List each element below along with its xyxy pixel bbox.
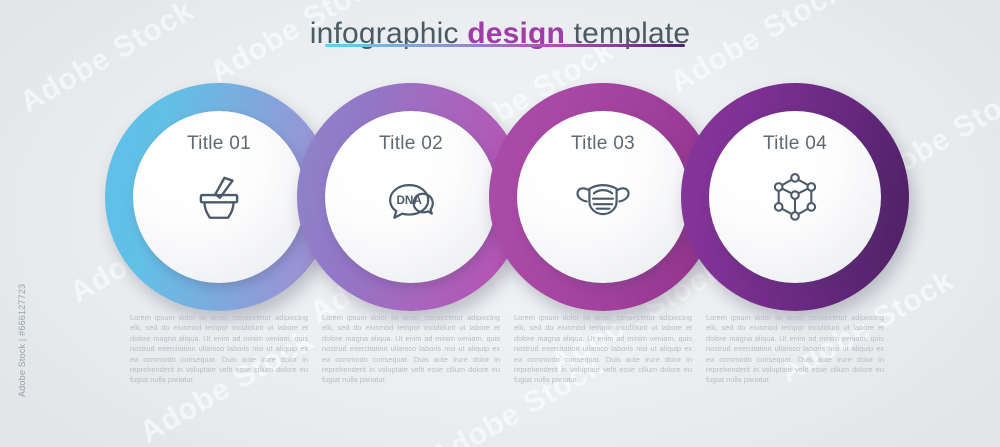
step-description-text-2: Lorem ipsum dolor sit amet, consectetur … [322,313,500,386]
step-title-2: Title 02 [379,133,443,155]
stock-credit-watermark: Adobe Stock | #666127723 [17,277,27,397]
title-underline-divider [325,44,685,47]
step-circle-4[interactable]: Title 04 [681,83,909,311]
step-description-text-4: Lorem ipsum dolor sit amet, consectetur … [706,313,884,386]
step-title-3: Title 03 [571,133,635,155]
molecule-cube-icon [764,165,826,227]
step-description-1: Lorem ipsum dolor sit amet, consectetur … [130,313,308,386]
step-description-text-1: Lorem ipsum dolor sit amet, consectetur … [130,313,308,386]
step-disc-2[interactable]: Title 02 DNA [325,111,497,283]
dna-speech-bubble-icon: DNA [380,165,442,227]
step-title-4: Title 04 [763,133,827,155]
step-title-1: Title 01 [187,133,251,155]
step-disc-3[interactable]: Title 03 [517,111,689,283]
step-description-text-3: Lorem ipsum dolor sit amet, consectetur … [514,313,692,386]
step-description-2: Lorem ipsum dolor sit amet, consectetur … [322,313,500,386]
step-description-3: Lorem ipsum dolor sit amet, consectetur … [514,313,692,386]
mortar-and-pestle-icon [188,165,250,227]
infographic-canvas: Adobe Stock Adobe Stock Adobe Stock Adob… [0,0,1000,447]
step-description-4: Lorem ipsum dolor sit amet, consectetur … [706,313,884,386]
dna-icon-label: DNA [396,194,422,207]
step-disc-4[interactable]: Title 04 [709,111,881,283]
medical-mask-icon [572,165,634,227]
step-disc-1[interactable]: Title 01 [133,111,305,283]
